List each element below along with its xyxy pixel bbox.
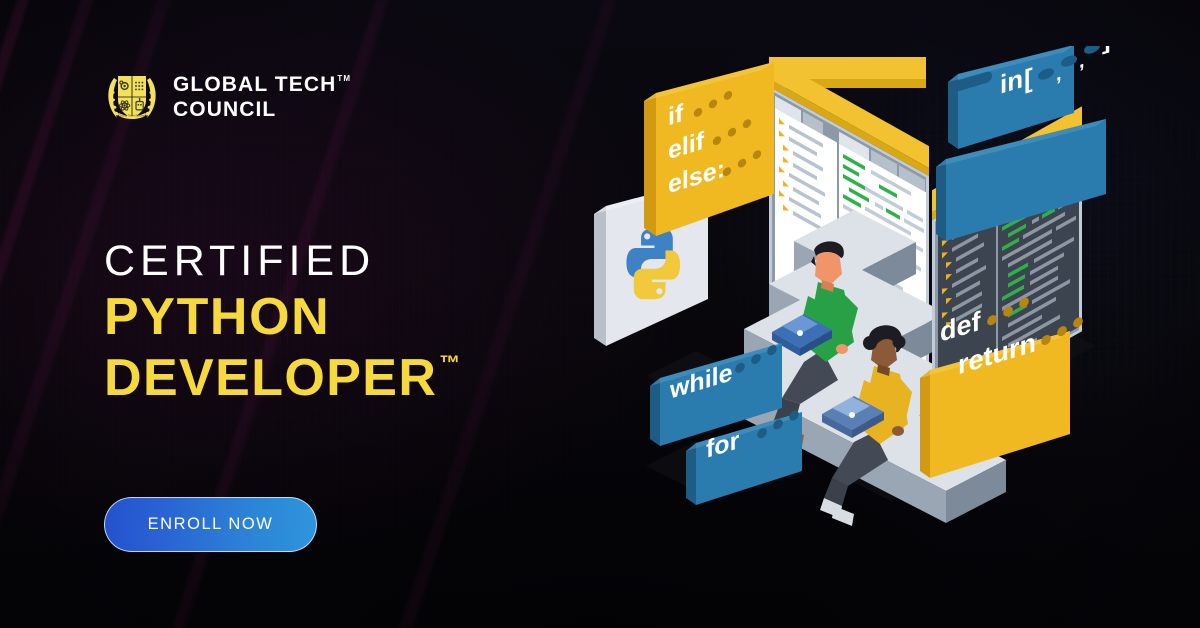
kw-if: if [668,99,684,131]
shield-crest-icon: Global Tech Council [104,66,160,128]
title-line-certified: CERTIFIED [104,238,460,284]
title-line-developer: DEVELOPER ™ [104,349,460,407]
kw-in-comma-1: , [1056,62,1062,86]
title-developer-text: DEVELOPER [104,349,437,407]
keyword-card-if-elif-else: if elif else: [644,62,774,236]
title-trademark-icon: ™ [439,353,460,374]
brand-line-1: GLOBAL TECH TM [173,74,351,95]
kw-in-comma-2: , [1079,49,1085,73]
enroll-now-button[interactable]: ENROLL NOW [104,497,317,552]
brand-logo[interactable]: Global Tech Council GLOBAL TECH TM COUNC… [104,66,351,128]
brand-wordmark: GLOBAL TECH TM COUNCIL [173,74,351,120]
kw-in-bracket-open: [ [1024,62,1033,94]
isometric-python-developers-scene: .kw { font-family: "Liberation Sans", sa… [586,46,1146,546]
brand-line-2: COUNCIL [173,99,351,120]
page-title: CERTIFIED PYTHON DEVELOPER ™ [104,238,460,407]
enroll-now-label: ENROLL NOW [148,515,274,534]
title-line-python: PYTHON [104,288,460,346]
brand-line-1-text: GLOBAL TECH [173,74,336,95]
svg-text:Global Tech Council: Global Tech Council [118,114,146,118]
kw-in-bracket-close: ] [1102,46,1111,55]
illustration-svg: .kw { font-family: "Liberation Sans", sa… [586,46,1146,546]
brand-trademark: TM [337,75,351,83]
python-developer-banner: Global Tech Council GLOBAL TECH TM COUNC… [0,0,1200,628]
